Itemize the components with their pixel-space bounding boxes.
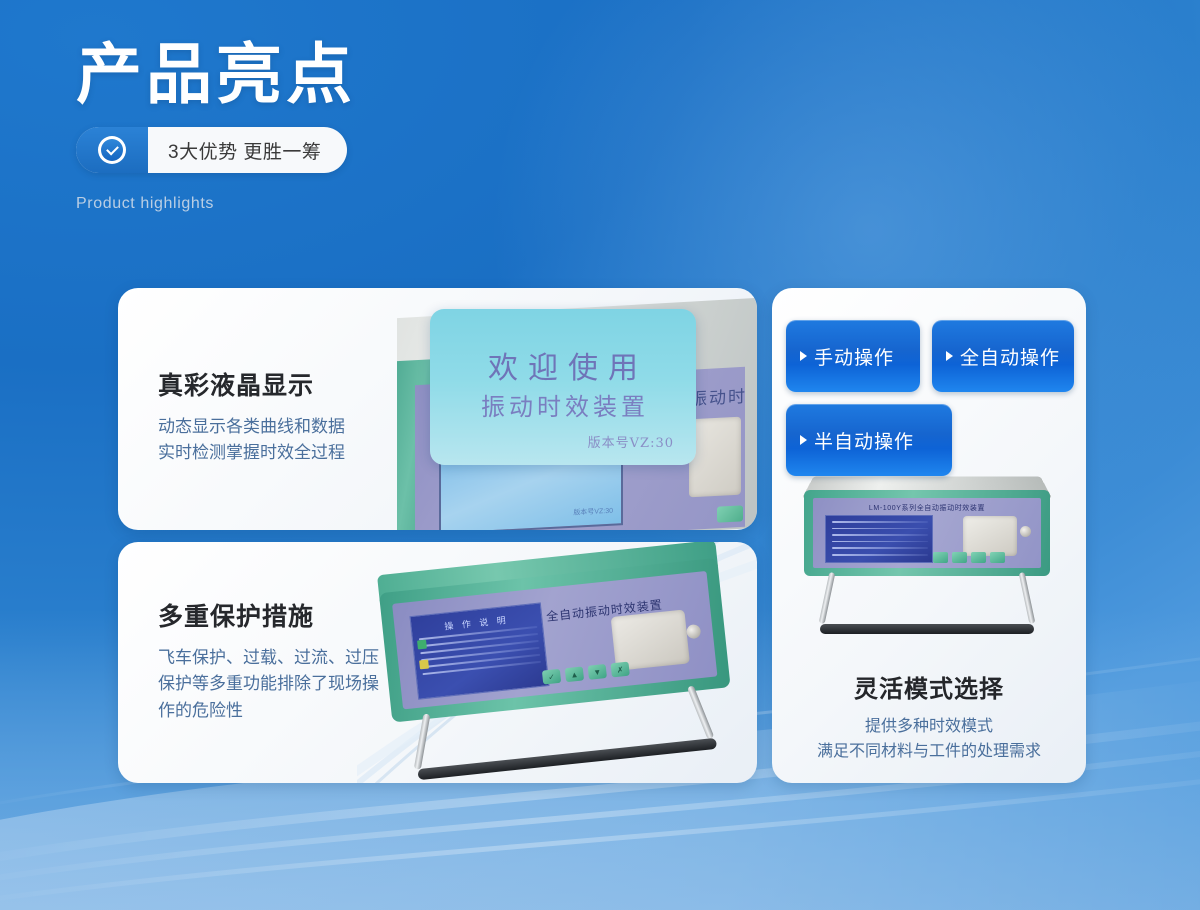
display-card-text: 真彩液晶显示 动态显示各类曲线和数据 实时检测掌握时效全过程 [158,366,345,467]
card-display: 振动时效装置 版本号VZ:30 动振动时 欢迎使用 振动时效装置 版本号VZ:3… [118,288,757,530]
card-mode: 手动操作 全自动操作 半自动操作 [772,288,1086,783]
mode-button-manual[interactable]: 手动操作 [786,320,920,392]
display-card-line-1: 动态显示各类曲线和数据 [158,414,345,440]
mode-device-label: LM-100Y系列全自动振动时效装置 [813,503,1041,513]
page-header: 产品亮点 3大优势 更胜一筹 Product highlights [76,40,356,213]
printer-module [689,417,741,498]
mode-card-line-1: 提供多种时效模式 [772,714,1086,740]
knob-icon [1020,526,1031,537]
lcd-overlay-panel: 欢迎使用 振动时效装置 版本号VZ:30 [430,309,696,465]
right-column: 手动操作 全自动操作 半自动操作 [772,288,1086,783]
protection-card-text: 多重保护措施 飞车保护、过载、过流、过压 保护等多重功能排除了现场操 作的危险性 [158,597,379,724]
mode-button-manual-label: 手动操作 [814,343,894,370]
mode-button-full-auto-label: 全自动操作 [960,343,1060,370]
protection-card-heading: 多重保护措施 [158,597,379,633]
mode-card-text: 灵活模式选择 提供多种时效模式 满足不同材料与工件的处理需求 [772,669,1086,765]
mode-button-full-auto[interactable]: 全自动操作 [932,320,1074,392]
badge-icon-area [76,127,148,173]
lcd-version: 版本号VZ:30 [588,432,674,451]
mode-card-heading: 灵活模式选择 [772,669,1086,704]
display-card-line-2: 实时检测掌握时效全过程 [158,440,345,466]
left-column: 振动时效装置 版本号VZ:30 动振动时 欢迎使用 振动时效装置 版本号VZ:3… [118,288,757,783]
lcd-line-2: 振动时效装置 [430,387,696,422]
highlight-badge: 3大优势 更胜一筹 [76,127,347,173]
triangle-right-icon [946,351,953,361]
page-root: 产品亮点 3大优势 更胜一筹 Product highlights 振动时效装置 [0,0,1200,910]
protection-device-photo: 操 作 说 明 全自动振动时效装置 ✓▲▼✗ [357,542,757,783]
knob-icon [686,624,701,639]
page-title: 产品亮点 [76,40,356,109]
protection-card-line-2: 保护等多重功能排除了现场操 [158,671,379,697]
highlight-cards: 振动时效装置 版本号VZ:30 动振动时 欢迎使用 振动时效装置 版本号VZ:3… [118,288,1086,783]
triangle-right-icon [800,351,807,361]
display-card-heading: 真彩液晶显示 [158,366,345,402]
device-key [717,505,743,522]
protection-card-line-3: 作的危险性 [158,698,379,724]
mode-card-line-2: 满足不同材料与工件的处理需求 [772,739,1086,765]
page-subtitle: Product highlights [76,195,356,213]
protection-card-line-1: 飞车保护、过载、过流、过压 [158,645,379,671]
mode-device-photo: LM-100Y系列全自动振动时效装置 [772,464,1086,644]
lcd-line-1: 欢迎使用 [430,343,696,387]
badge-label: 3大优势 更胜一筹 [148,127,347,173]
device-keypad: ✓▲▼✗ [542,662,630,685]
card-protection: 操 作 说 明 全自动振动时效装置 ✓▲▼✗ [118,542,757,783]
triangle-right-icon [800,435,807,445]
device-screen-version: 版本号VZ:30 [573,506,613,518]
mode-button-semi-auto[interactable]: 半自动操作 [786,404,952,476]
check-circle-icon [98,136,126,164]
mode-button-group: 手动操作 全自动操作 半自动操作 [786,320,1074,488]
device-keypad [933,552,1005,563]
mode-button-semi-auto-label: 半自动操作 [814,427,914,454]
printer-module [963,516,1017,556]
